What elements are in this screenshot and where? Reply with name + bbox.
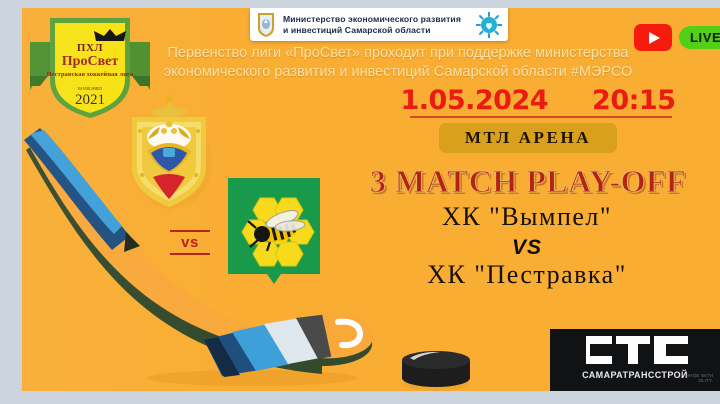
home-team-name: ХК "Вымпел" bbox=[347, 202, 707, 232]
ministry-banner: Министерство экономического развития и и… bbox=[250, 8, 508, 41]
sponsor-logo: САМАРАТРАНССТРОЙ MADE WITH GLITY. bbox=[550, 329, 720, 391]
event-date: 1.05.2024 bbox=[401, 85, 549, 116]
hockey-stick-graphic bbox=[22, 126, 382, 391]
crown-icon bbox=[60, 28, 180, 42]
ctc-logo-icon bbox=[578, 332, 694, 368]
teal-sunburst-heart-icon bbox=[476, 12, 502, 38]
ministry-line-1: Министерство экономического развития bbox=[283, 14, 472, 25]
event-time: 20:15 bbox=[592, 85, 675, 116]
league-abbr: ПХЛ bbox=[30, 42, 150, 54]
frame-left-band bbox=[0, 0, 22, 404]
league-subtitle: Пестравская хоккейная лига bbox=[30, 71, 150, 78]
event-datetime: 1.05.2024 20:15 bbox=[404, 85, 672, 116]
versus-label: VS bbox=[347, 236, 707, 260]
frame-bottom-band bbox=[0, 391, 720, 404]
headline-line-1: Первенство лиги «ПроСвет» проходит при п… bbox=[150, 44, 646, 63]
datetime-underline bbox=[410, 116, 672, 118]
headline-line-2: экономического развития и инвестиций Сам… bbox=[150, 63, 646, 82]
youtube-play-icon[interactable] bbox=[634, 24, 672, 51]
hockey-puck-graphic bbox=[394, 346, 478, 391]
poster-frame: ПХЛ ПроСвет Пестравская хоккейная лига E… bbox=[0, 0, 720, 404]
frame-top-band bbox=[0, 0, 720, 8]
stage-title: 3 MATCH PLAY-OFF bbox=[350, 164, 706, 198]
samara-region-crest-icon bbox=[256, 12, 276, 38]
live-label: LIVE bbox=[679, 26, 720, 49]
ministry-line-2: и инвестиций Самарской области bbox=[283, 25, 472, 36]
sponsor-made-with: MADE WITH GLITY. bbox=[686, 373, 713, 383]
ministry-text: Министерство экономического развития и и… bbox=[283, 14, 472, 36]
league-title: ПроСвет bbox=[30, 54, 150, 70]
arena-badge: МТЛ АРЕНА bbox=[439, 123, 617, 153]
support-headline: Первенство лиги «ПроСвет» проходит при п… bbox=[150, 44, 646, 82]
live-badge[interactable]: LIVE bbox=[634, 24, 720, 51]
away-team-name: ХК "Пестравка" bbox=[347, 260, 707, 290]
